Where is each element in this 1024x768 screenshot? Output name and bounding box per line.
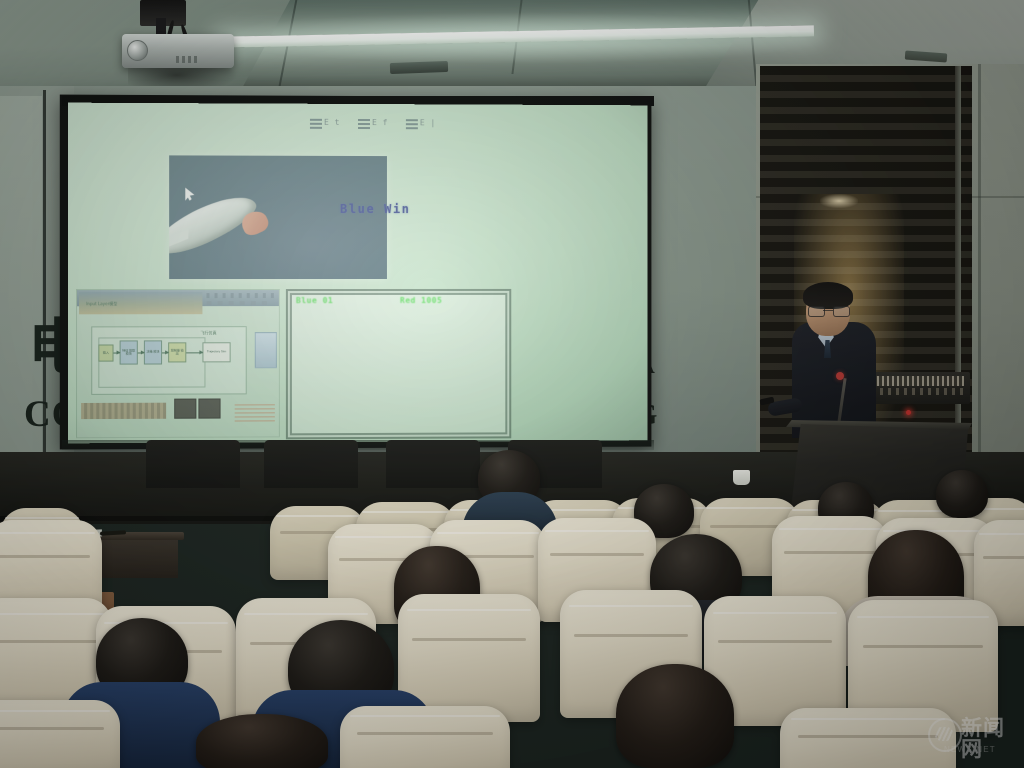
- diagram-arrow: [162, 352, 168, 353]
- slide-toolbar: E t E f E |: [310, 118, 440, 133]
- audience-head: [936, 470, 988, 518]
- app-thumbnail[interactable]: [198, 398, 220, 418]
- slide-toolbar-item-1[interactable]: E t: [324, 118, 340, 127]
- audience-head: [196, 714, 328, 768]
- front-chair[interactable]: [146, 440, 240, 488]
- slide-app-window[interactable]: Input Layer模型 输入 特征 提取 模块 决策 模块 控制量 输出 T…: [76, 289, 280, 438]
- toolbar-glyph-icon: [310, 119, 322, 129]
- wall-seam: [978, 64, 981, 472]
- microphone-icon: [836, 372, 844, 380]
- app-filmstrip: [81, 403, 166, 419]
- status-text-blue-win: Blue Win: [340, 202, 410, 216]
- projector-vent: [188, 56, 191, 63]
- presentation-slide: E t E f E | Blue Win: [68, 103, 648, 444]
- projector-vent: [194, 56, 197, 63]
- projector-vent: [182, 56, 185, 63]
- result-label-red: Red 1005: [400, 296, 442, 305]
- seat[interactable]: [0, 700, 120, 768]
- app-side-panel[interactable]: [255, 332, 277, 368]
- diagram-block-trajectory: Trajectory Sim: [202, 342, 230, 362]
- app-thumbnail[interactable]: [174, 399, 196, 419]
- slide-toolbar-item-3[interactable]: E |: [420, 118, 436, 127]
- presenter-glasses-icon: [808, 306, 848, 315]
- mixer-faders[interactable]: [872, 376, 964, 386]
- projection-screen[interactable]: E t E f E | Blue Win: [68, 103, 648, 444]
- projector-lens-icon: [127, 40, 148, 61]
- result-label-blue: Blue 01: [296, 296, 333, 305]
- diagram-block-input: 输入: [98, 344, 113, 361]
- wall-slat-edge: [955, 66, 961, 466]
- audience-head: [616, 664, 734, 768]
- diagram-block-feature: 特征 提取 模块: [120, 340, 138, 364]
- glasses-lens: [833, 306, 850, 317]
- app-text-lines: [235, 404, 275, 422]
- glasses-lens: [808, 306, 825, 317]
- wall-light-hotspot: [820, 194, 858, 208]
- mixer-knobs[interactable]: [872, 388, 964, 395]
- front-row-chairs: [140, 440, 660, 492]
- diagram-output-label: 飞行仿真: [200, 330, 216, 336]
- presenter-hair: [803, 282, 853, 309]
- seat[interactable]: [340, 706, 510, 768]
- seat[interactable]: [780, 708, 956, 768]
- diagram-block-output: 控制量 输出: [168, 342, 186, 362]
- glasses-bridge: [823, 310, 833, 311]
- diagram-group-label: Input Layer模型: [86, 301, 117, 307]
- record-indicator-led: [906, 410, 911, 415]
- front-chair[interactable]: [386, 440, 480, 488]
- slide-result-panel[interactable]: Blue 01 Red 1005: [286, 289, 511, 439]
- toolbar-glyph-icon: [358, 119, 370, 129]
- diagram-arrow: [186, 352, 202, 353]
- diagram-arrow: [138, 352, 144, 353]
- slide-toolbar-item-2[interactable]: E f: [372, 118, 388, 127]
- paper-cup: [733, 470, 750, 485]
- diagram-block-decision: 决策 模块: [144, 340, 162, 364]
- auditorium-scene: 电 COL A G E t E f E | Blue Win: [0, 0, 1024, 768]
- simulation-video-panel[interactable]: [169, 155, 387, 279]
- app-toolbar-row: [206, 293, 274, 298]
- toolbar-glyph-icon: [406, 119, 418, 129]
- diagram-arrow: [114, 353, 120, 354]
- app-toolbar-row: [206, 301, 268, 305]
- projector-vent: [176, 56, 179, 63]
- ceiling-vent: [390, 61, 448, 74]
- front-chair[interactable]: [264, 440, 358, 488]
